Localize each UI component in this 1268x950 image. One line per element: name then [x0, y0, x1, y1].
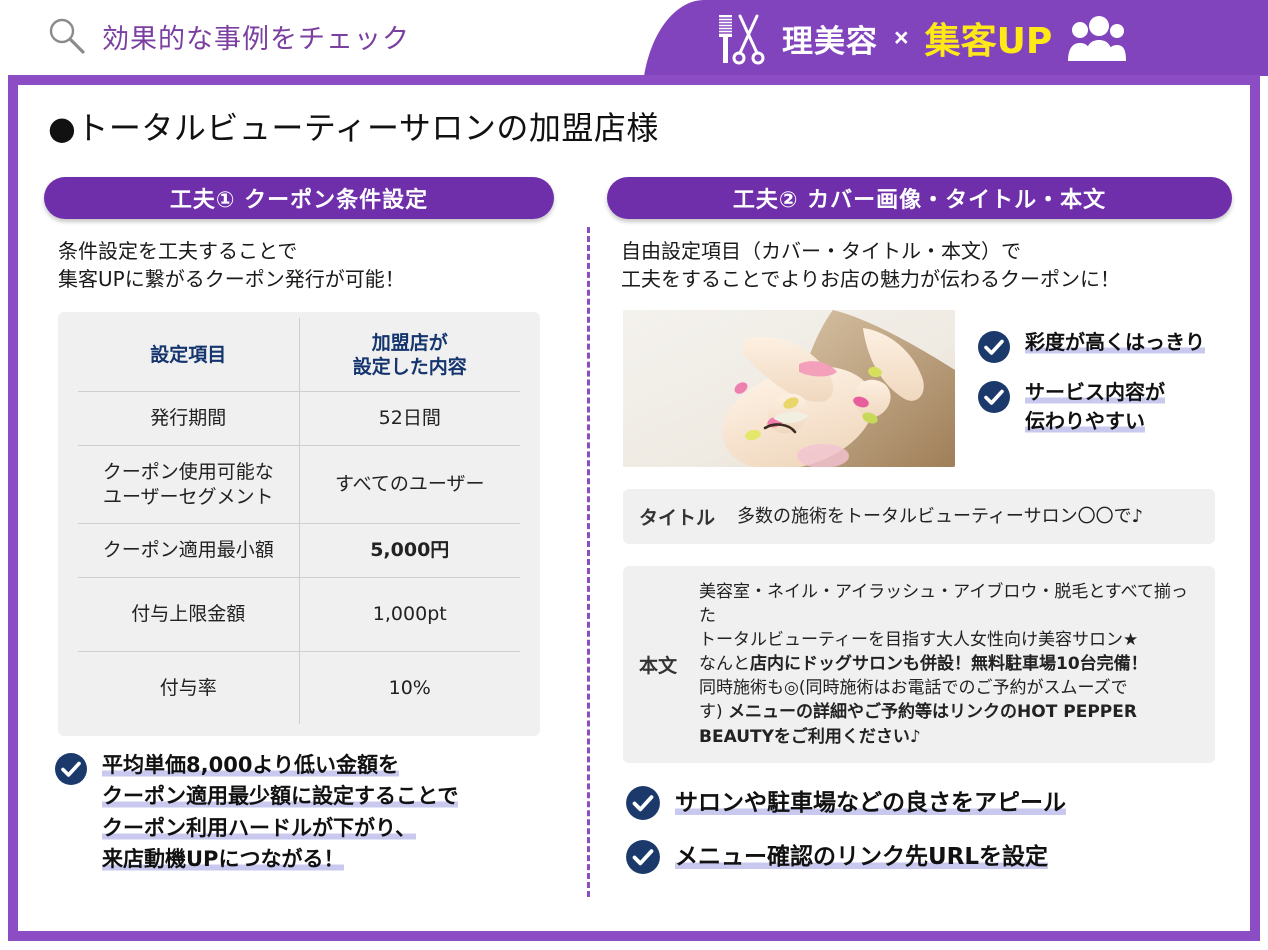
- table-header-item: 設定項目: [78, 318, 299, 392]
- right-check-text-inner: サロンや駐車場などの良さをアピール: [675, 790, 1066, 816]
- left-check-list: 平均単価8,000より低い金額を クーポン適用最少額に設定することで クーポン利…: [54, 750, 554, 874]
- table-header-row: 設定項目 加盟店が 設定した内容: [78, 318, 520, 392]
- top-header-bar: 効果的な事例をチェック: [0, 0, 1268, 76]
- list-item: 彩度が高くはっきり: [977, 328, 1205, 364]
- cover-photo-row: 彩度が高くはっきり サービス内容が 伝わりやすい: [607, 310, 1232, 467]
- table-cell-item: クーポン適用最小額: [78, 524, 299, 578]
- body-line-bold: 店内にドッグサロンも併設！無料駐車場10台完備！: [750, 654, 1148, 674]
- slide-page: 効果的な事例をチェック: [0, 0, 1268, 950]
- list-item: 平均単価8,000より低い金額を クーポン適用最少額に設定することで クーポン利…: [54, 750, 554, 874]
- table-cell-value: 1,000pt: [299, 578, 520, 652]
- photo-check-text-inner: 彩度が高くはっきり: [1025, 330, 1205, 354]
- check-circle-icon: [54, 752, 88, 786]
- body-line: 美容室・ネイル・アイラッシュ・アイブロウ・脱毛とすべて揃った: [699, 582, 1188, 626]
- photo-check-text-inner: サービス内容が 伝わりやすい: [1025, 380, 1165, 434]
- left-section-header: 工夫① クーポン条件設定: [44, 177, 554, 219]
- left-section-header-label: 工夫① クーポン条件設定: [170, 182, 428, 214]
- table-row: クーポン適用最小額 5,000円: [78, 524, 520, 578]
- column-divider: [587, 227, 590, 897]
- table-cell-value: 10%: [299, 651, 520, 724]
- banner-content: 理美容 × 集客UP: [644, 0, 1268, 76]
- body-line: トータルビューティーを目指す大人女性向け美容サロン★: [699, 630, 1138, 650]
- content-frame: ●トータルビューティーサロンの加盟店様 工夫① クーポン条件設定 条件設定を工夫…: [8, 75, 1260, 941]
- body-field: 本文 美容室・ネイル・アイラッシュ・アイブロウ・脱毛とすべて揃った トータルビュ…: [623, 566, 1215, 763]
- banner-accent-label: 集客UP: [925, 12, 1053, 64]
- check-circle-icon: [977, 380, 1011, 414]
- coupon-settings-table-wrapper: 設定項目 加盟店が 設定した内容 発行期間 52日間: [58, 312, 540, 737]
- table-cell-value: 5,000円: [299, 524, 520, 578]
- table-row: 付与率 10%: [78, 651, 520, 724]
- table-row: 付与上限金額 1,000pt: [78, 578, 520, 652]
- left-lead-text: 条件設定を工夫することで 集客UPに繋がるクーポン発行が可能！: [44, 237, 554, 294]
- title-field-value: 多数の施術をトータルビューティーサロン〇〇で♪: [737, 504, 1143, 529]
- right-section-header-label: 工夫② カバー画像・タイトル・本文: [733, 182, 1106, 214]
- body-line: 同時施術も◎(同時施術はお電話でのご予約がスムーズで: [699, 678, 1128, 698]
- title-field-label: タイトル: [639, 503, 715, 530]
- table-cell-value: 52日間: [299, 392, 520, 446]
- comb-scissors-icon: [712, 9, 770, 67]
- body-line-bold: BEAUTYをご利用ください♪: [699, 727, 921, 747]
- body-field-label: 本文: [639, 651, 677, 678]
- coupon-settings-table: 設定項目 加盟店が 設定した内容 発行期間 52日間: [78, 318, 520, 725]
- table-cell-item: 付与率: [78, 651, 299, 724]
- body-line-bold: メニューの詳細やご予約等はリンクのHOT PEPPER: [728, 702, 1137, 722]
- content-frame-inner: ●トータルビューティーサロンの加盟店様 工夫① クーポン条件設定 条件設定を工夫…: [18, 85, 1250, 931]
- search-heading: 効果的な事例をチェック: [44, 14, 410, 58]
- right-check-text: メニュー確認のリンク先URLを設定: [675, 840, 1048, 874]
- table-cell-value: すべてのユーザー: [299, 445, 520, 523]
- body-line: なんと: [699, 654, 750, 674]
- table-cell-item: 発行期間: [78, 392, 299, 446]
- photo-check-text: サービス内容が 伝わりやすい: [1025, 378, 1165, 437]
- right-column: 工夫② カバー画像・タイトル・本文 自由設定項目（カバー・タイトル・本文）で 工…: [607, 177, 1232, 893]
- page-title: ●トータルビューティーサロンの加盟店様: [48, 103, 659, 149]
- list-item: サロンや駐車場などの良さをアピール: [625, 785, 1232, 821]
- photo-check-text: 彩度が高くはっきり: [1025, 328, 1205, 358]
- check-circle-icon: [625, 785, 661, 821]
- right-check-list: サロンや駐車場などの良さをアピール メニュー確認のリンク先URLを設定: [625, 785, 1232, 875]
- check-circle-icon: [625, 839, 661, 875]
- title-field: タイトル 多数の施術をトータルビューティーサロン〇〇で♪: [623, 489, 1215, 544]
- banner-category-label: 理美容: [782, 16, 878, 61]
- body-field-value: 美容室・ネイル・アイラッシュ・アイブロウ・脱毛とすべて揃った トータルビューティ…: [699, 580, 1199, 749]
- check-circle-icon: [977, 330, 1011, 364]
- cover-photo: [623, 310, 955, 467]
- people-icon: [1066, 15, 1126, 61]
- table-row: 発行期間 52日間: [78, 392, 520, 446]
- banner-cross-symbol: ×: [890, 24, 913, 53]
- body-line: す): [699, 702, 723, 722]
- magnifier-icon: [44, 14, 88, 58]
- table-header-value-line1: 加盟店が: [306, 332, 515, 356]
- table-cell-item: クーポン使用可能な ユーザーセグメント: [78, 445, 299, 523]
- left-check-text-inner: 平均単価8,000より低い金額を クーポン適用最少額に設定することで クーポン利…: [102, 753, 458, 870]
- right-section-header: 工夫② カバー画像・タイトル・本文: [607, 177, 1232, 219]
- list-item: サービス内容が 伝わりやすい: [977, 378, 1205, 437]
- left-check-text: 平均単価8,000より低い金額を クーポン適用最少額に設定することで クーポン利…: [102, 750, 458, 874]
- table-row: クーポン使用可能な ユーザーセグメント すべてのユーザー: [78, 445, 520, 523]
- right-lead-text: 自由設定項目（カバー・タイトル・本文）で 工夫をすることでよりお店の魅力が伝わる…: [607, 237, 1232, 294]
- list-item: メニュー確認のリンク先URLを設定: [625, 839, 1232, 875]
- table-cell-item: 付与上限金額: [78, 578, 299, 652]
- table-header-value-line2: 設定した内容: [306, 356, 515, 380]
- photo-check-list: 彩度が高くはっきり サービス内容が 伝わりやすい: [977, 310, 1205, 451]
- left-column: 工夫① クーポン条件設定 条件設定を工夫することで 集客UPに繋がるクーポン発行…: [44, 177, 554, 887]
- table-header-value: 加盟店が 設定した内容: [299, 318, 520, 392]
- right-check-text-inner: メニュー確認のリンク先URLを設定: [675, 844, 1048, 870]
- search-heading-label: 効果的な事例をチェック: [102, 17, 410, 56]
- right-check-text: サロンや駐車場などの良さをアピール: [675, 786, 1066, 820]
